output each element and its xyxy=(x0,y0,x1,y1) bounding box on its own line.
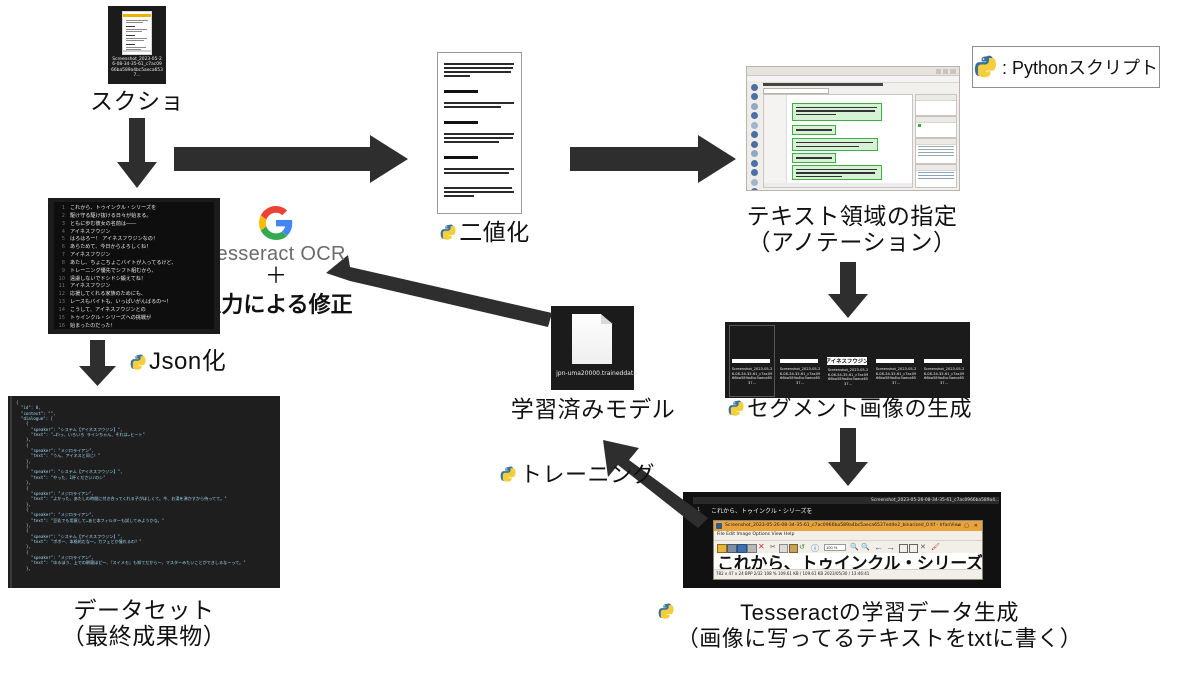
ocr-line-text: あらためて、今日からよろしくね！ xyxy=(70,244,151,252)
irfanview-zoom-field[interactable]: 100 % xyxy=(824,544,846,551)
segment-caption: Screenshot_2023-05-26-08-34-35-61_c7ac09… xyxy=(923,367,965,385)
ocr-output-line: 6あらためて、今日からよろしくね！ xyxy=(56,244,214,252)
step-label-training-row: トレーニング xyxy=(500,462,655,488)
annotation-window-menubar[interactable] xyxy=(747,76,959,83)
arrow-screenshot-to-ocr xyxy=(115,118,159,190)
ocr-output-line: 16始まったのだった！ xyxy=(56,323,214,331)
ocr-output-line: 1これから、トゥインクル・シリーズを xyxy=(56,205,214,213)
ocr-line-number: 13 xyxy=(56,299,65,307)
dataset-json-lines: {"id": 0,"context": "","dialogue": [{"sp… xyxy=(16,400,276,571)
ocr-line-text: アイネスフウジン xyxy=(70,252,111,260)
ocr-plus-sign: ＋ xyxy=(196,265,356,287)
step-label-traindata-line1: Tesseractの学習データ生成 xyxy=(677,600,1082,626)
arrow-ocr-to-json xyxy=(78,340,118,388)
annotation-labels-pane[interactable] xyxy=(915,116,957,138)
step-label-training: トレーニング xyxy=(520,462,655,488)
ocr-output-line: 15トゥインクル・シリーズへの挑戦が xyxy=(56,315,214,323)
ocr-line-number: 14 xyxy=(56,307,65,315)
segment-thumbnail[interactable]: Screenshot_2023-05-26-08-34-35-61_c7ac09… xyxy=(778,326,820,392)
arrow-annotation-to-segments xyxy=(826,262,870,320)
irfanview-image-area: これから、トゥインクル・シリーズを xyxy=(714,553,982,570)
ocr-line-text: 駆け守る駆け抜ける日々が始まる。 xyxy=(70,213,152,221)
ocr-output-line: 12応援してくれる家族のためにも、 xyxy=(56,291,214,299)
legend-label: : Pythonスクリプト xyxy=(1002,54,1158,80)
irfanview-window[interactable]: Screenshot_2023-05-26-08-34-35-61_c7ac09… xyxy=(713,520,983,580)
irfanview-image-text: これから、トゥインクル・シリーズを xyxy=(714,553,982,570)
irfanview-title-text: Screenshot_2023-05-26-08-34-35-61_c7ac09… xyxy=(725,523,961,528)
ocr-manual-label: 人力による修正 xyxy=(196,287,356,319)
legend-box: : Pythonスクリプト xyxy=(972,46,1160,88)
segment-images-panel: Screenshot_2023-05-26-08-34-35-61_c7ac09… xyxy=(725,322,970,398)
step-label-traindata-row: Tesseractの学習データ生成 （画像に写ってるテキストをtxtに書く） xyxy=(660,600,1080,652)
python-logo-icon xyxy=(658,603,675,620)
arrow-screenshot-to-binarize xyxy=(174,135,410,183)
ocr-step-group: Tesseract OCR ＋ 人力による修正 xyxy=(196,206,356,319)
ocr-line-number: 10 xyxy=(56,276,65,284)
segment-caption: Screenshot_2023-05-26-08-34-35-61_c7ac09… xyxy=(875,367,917,385)
step-label-dataset-line2: （最終成果物） xyxy=(44,623,244,650)
annotation-window-titlebar xyxy=(747,67,959,76)
segment-thumbnail[interactable]: Screenshot_2023-05-26-08-34-35-61_c7ac09… xyxy=(730,326,772,392)
annotation-box[interactable] xyxy=(792,103,882,121)
annotation-box[interactable] xyxy=(792,153,836,163)
ocr-line-text: これから、トゥインクル・シリーズを xyxy=(70,205,156,213)
trained-model-panel: jpn-uma20000.traineddata xyxy=(551,306,634,390)
step-label-traindata-line2: （画像に写ってるテキストをtxtに書く） xyxy=(677,626,1082,652)
step-label-model: 学習済みモデル xyxy=(495,396,691,423)
annotation-canvas[interactable] xyxy=(763,94,913,188)
screenshot-file-caption: Screenshot_2023-05-26-08-34-35-61_c7ac09… xyxy=(111,57,163,80)
segment-highlight-text: アイネスフウジン xyxy=(826,357,869,365)
dataset-json-line: "text": "ゆるほう、上での朝寝ほど～、『スイメモ』も知てだから～、マスタ… xyxy=(16,560,276,565)
annotation-box[interactable] xyxy=(792,138,878,151)
ocr-line-number: 15 xyxy=(56,315,65,323)
irfanview-line-text: これから、トゥインクル・シリーズを xyxy=(711,506,813,515)
ocr-output-line: 7アイネスフウジン xyxy=(56,252,214,260)
ocr-output-line: 13レースもバイトも、いっぱいがんばるの～！ xyxy=(56,299,214,307)
ocr-output-line: 3ともに歩む彼女の名前は―― xyxy=(56,221,214,229)
ocr-line-text: トレーニング優先でシフト組むから、 xyxy=(70,268,157,276)
google-g-icon xyxy=(259,206,293,240)
ocr-line-number: 3 xyxy=(56,221,65,229)
ocr-line-text: 応援してくれる家族のためにも、 xyxy=(70,291,146,299)
ocr-line-number: 2 xyxy=(56,213,65,221)
segment-thumbnail[interactable]: Screenshot_2023-05-26-08-34-35-61_c7ac09… xyxy=(922,326,964,392)
ocr-line-text: あたし、ちょこちょこバイトが入ってるけど、 xyxy=(70,260,176,268)
annotation-toolbar[interactable] xyxy=(747,81,761,190)
screenshot-thumbnail-panel: Screenshot_2023-05-26-08-34-35-61_c7ac09… xyxy=(108,6,166,84)
segment-thumbnail-highlighted[interactable]: アイネスフウジン Screenshot_2023-05-26-08-34-35-… xyxy=(826,326,868,392)
arrow-model-to-ocr xyxy=(326,255,554,327)
ocr-line-number: 6 xyxy=(56,244,65,252)
dataset-json-line: }, xyxy=(16,566,276,571)
irfanview-top-caption: Screenshot_2023-05-26-08-34-35-61_c7ac09… xyxy=(871,498,999,503)
annotation-file-list-pane[interactable] xyxy=(915,94,957,116)
step-label-binarize: 二値化 xyxy=(459,219,530,246)
ocr-output-line: 8あたし、ちょこちょこバイトが入ってるけど、 xyxy=(56,260,214,268)
annotation-box[interactable] xyxy=(792,165,882,180)
ocr-output-panel: 1これから、トゥインクル・シリーズを2駆け守る駆け抜ける日々が始まる。3ともに歩… xyxy=(48,198,220,334)
ocr-line-number: 16 xyxy=(56,323,65,331)
annotation-tool-window xyxy=(746,66,960,191)
arrow-segments-to-traindata xyxy=(826,428,870,488)
ocr-line-number: 1 xyxy=(56,205,65,213)
ocr-line-text: トゥインクル・シリーズへの挑戦が xyxy=(70,315,151,323)
ocr-line-text: こうして、アイネスフウジンとの xyxy=(70,307,146,315)
ocr-line-number: 4 xyxy=(56,229,65,237)
python-logo-icon xyxy=(974,55,998,79)
ocr-line-number: 9 xyxy=(56,268,65,276)
segment-caption: Screenshot_2023-05-26-08-34-35-61_c7ac09… xyxy=(827,368,869,386)
traineddata-file-caption: jpn-uma20000.traineddata xyxy=(555,370,638,378)
irfanview-titlebar[interactable]: Screenshot_2023-05-26-08-34-35-61_c7ac09… xyxy=(714,521,982,531)
python-logo-icon xyxy=(500,466,517,483)
ocr-line-number: 7 xyxy=(56,252,65,260)
ocr-line-text: レースもバイトも、いっぱいがんばるの～！ xyxy=(70,299,171,307)
annotation-files-pane[interactable] xyxy=(915,164,957,188)
ocr-line-text: ともに歩む彼女の名前は―― xyxy=(70,221,136,229)
screenshot-thumbnail-image xyxy=(122,11,152,55)
ocr-line-number: 12 xyxy=(56,291,65,299)
irfanview-menubar[interactable]: File Edit Image Options View Help xyxy=(714,531,982,541)
dataset-json-editor: {"id": 0,"context": "","dialogue": [{"sp… xyxy=(8,396,280,588)
python-logo-icon xyxy=(130,354,147,371)
ocr-output-line: 2駆け守る駆け抜ける日々が始まる。 xyxy=(56,213,214,221)
segment-caption: Screenshot_2023-05-26-08-34-35-61_c7ac09… xyxy=(731,367,773,385)
ocr-line-number: 5 xyxy=(56,236,65,244)
ocr-output-lines: 1これから、トゥインクル・シリーズを2駆け守る駆け抜ける日々が始まる。3ともに歩… xyxy=(56,205,214,331)
segment-caption: Screenshot_2023-05-26-08-34-35-61_c7ac09… xyxy=(779,367,821,385)
binarized-document-image xyxy=(437,52,522,214)
annotation-box[interactable] xyxy=(792,125,836,135)
step-label-binarize-row: 二値化 xyxy=(425,219,545,246)
step-label-annotation-line1: テキスト領域の指定 xyxy=(700,203,1004,230)
ocr-output-line: 9トレーニング優先でシフト組むから、 xyxy=(56,268,214,276)
step-label-jsonify-row: Json化 xyxy=(130,348,226,376)
step-label-screenshot: スクショ xyxy=(82,88,192,115)
python-logo-icon xyxy=(440,224,457,241)
python-logo-icon xyxy=(728,400,745,417)
annotation-boxes-pane[interactable] xyxy=(915,138,957,164)
irfanview-screenshot-panel: Screenshot_2023-05-26-08-34-35-61_c7ac09… xyxy=(683,492,1001,588)
ocr-line-number: 11 xyxy=(56,283,65,291)
step-label-jsonify: Json化 xyxy=(149,348,226,376)
arrow-binarize-to-annotation xyxy=(570,135,738,183)
segment-thumbnail[interactable]: Screenshot_2023-05-26-08-34-35-61_c7ac09… xyxy=(874,326,916,392)
ocr-output-line: 14こうして、アイネスフウジンとの xyxy=(56,307,214,315)
step-label-segments: セグメント画像の生成 xyxy=(747,396,972,422)
step-label-annotation-line2: （アノテーション） xyxy=(700,229,1004,256)
step-label-segments-row: セグメント画像の生成 xyxy=(700,396,1000,422)
step-label-dataset-line1: データセット xyxy=(44,597,244,624)
irfanview-statusbar: 782 x 47 x 24 BPP 2/32 108 % 109.61 KB /… xyxy=(714,569,982,579)
ocr-line-text: 始まったのだった！ xyxy=(70,323,116,331)
ocr-line-number: 8 xyxy=(56,260,65,268)
